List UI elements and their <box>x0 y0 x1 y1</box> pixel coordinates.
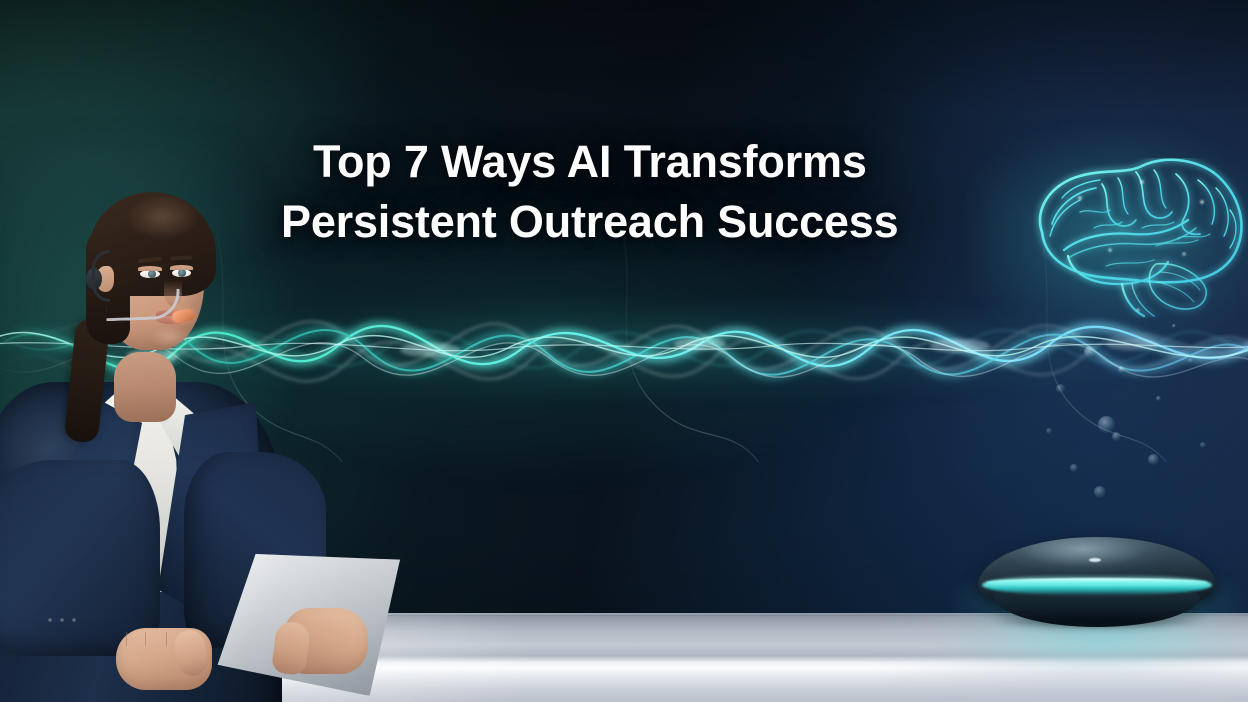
neck <box>114 352 176 422</box>
iris-left <box>148 270 156 278</box>
eye-left <box>140 270 160 278</box>
brain-hologram <box>1006 158 1248 318</box>
headline-line-2: Persistent Outreach Success <box>281 192 1001 252</box>
chin <box>150 326 192 348</box>
arm-left <box>0 460 160 656</box>
speaker-status-led <box>1089 558 1101 562</box>
speaker-light-ring-core <box>986 578 1208 587</box>
hero-banner: Top 7 Ways AI Transforms Persistent Outr… <box>0 0 1248 702</box>
eyelid-right <box>170 265 193 270</box>
banner-headline: Top 7 Ways AI Transforms Persistent Outr… <box>281 132 1001 252</box>
eyelid-left <box>138 266 162 271</box>
speaker-contact-shadow <box>990 613 1204 629</box>
light-particles <box>1040 300 1240 550</box>
iris-right <box>178 269 186 277</box>
sleeve-buttons <box>46 616 86 624</box>
smart-speaker <box>968 537 1226 627</box>
eye-right <box>172 269 191 277</box>
brain-icon <box>1006 158 1248 318</box>
headline-line-1: Top 7 Ways AI Transforms <box>281 132 1001 192</box>
